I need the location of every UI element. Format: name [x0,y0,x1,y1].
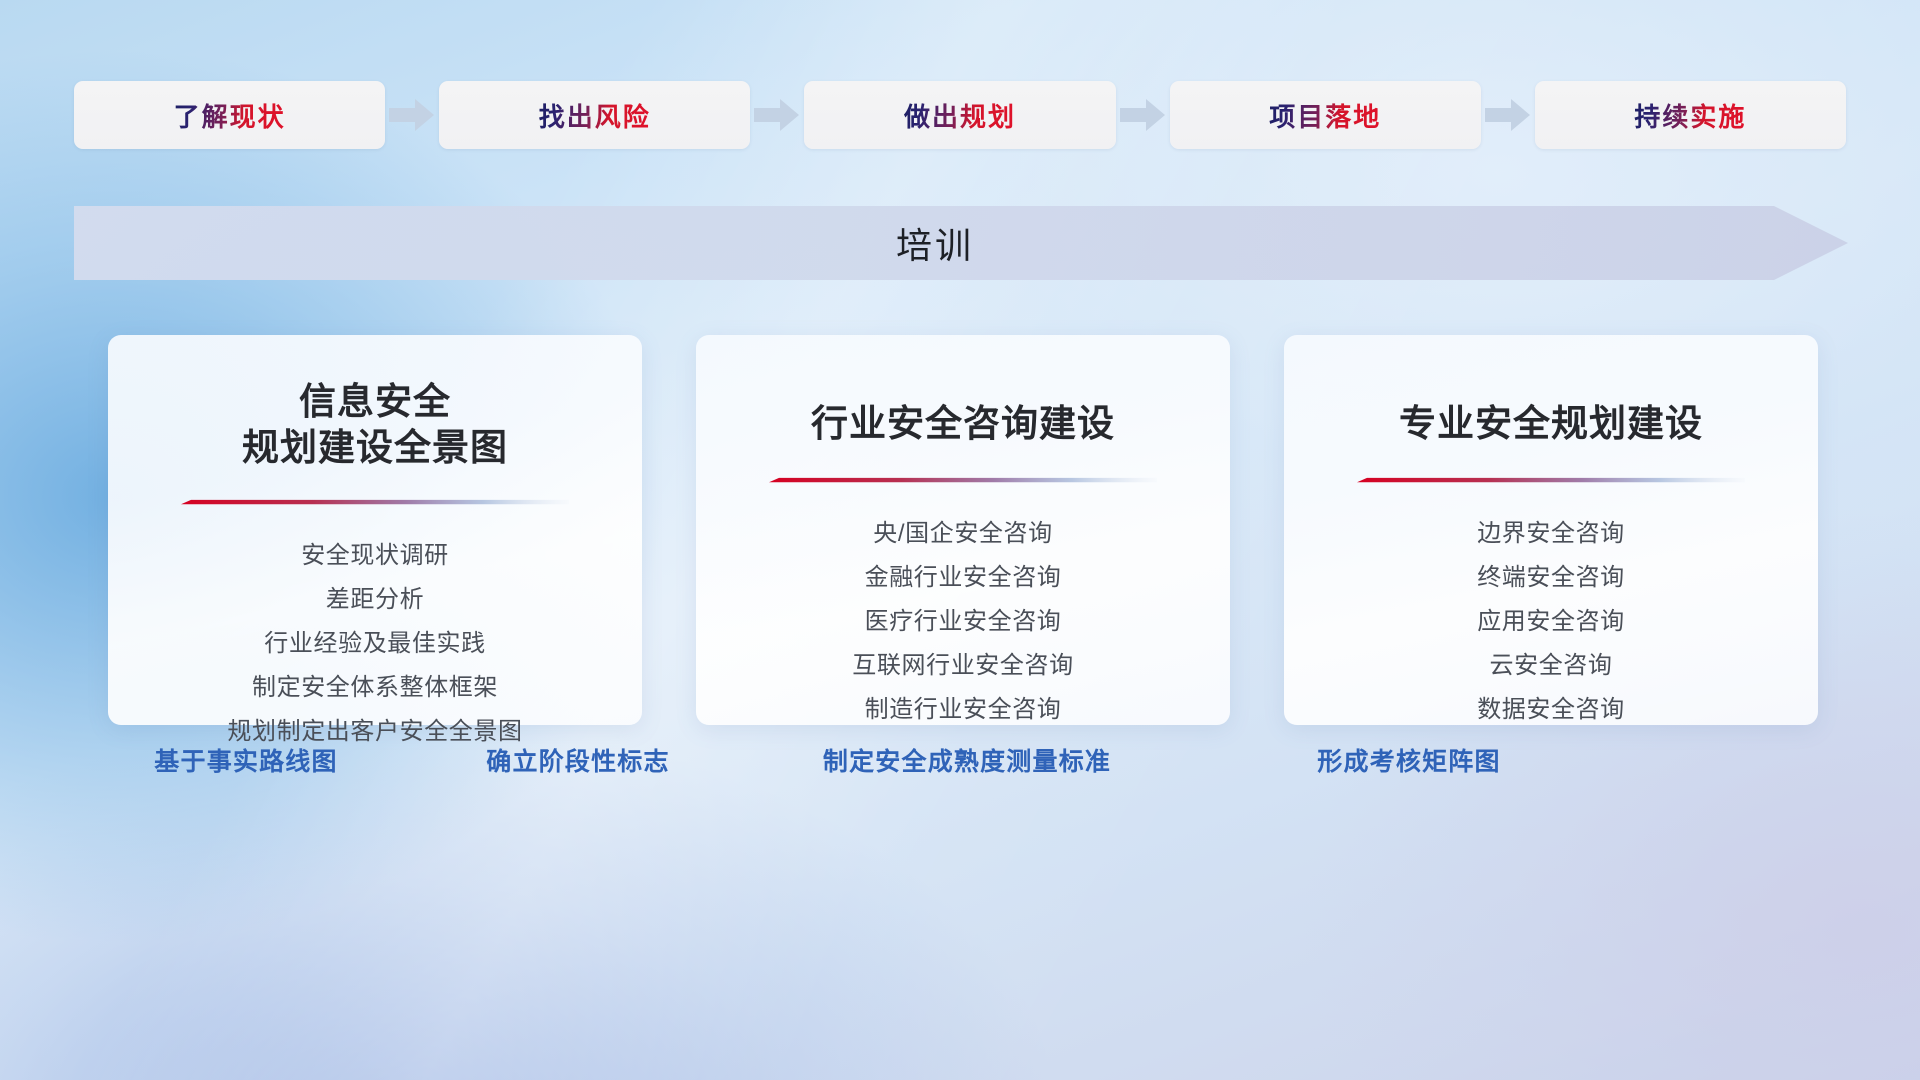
step-label-1: 了解现状 [174,97,286,134]
list-item: 终端安全咨询 [1308,556,1794,600]
list-item: 制造行业安全咨询 [720,688,1206,732]
step-box-3[interactable]: 做出规划 [804,81,1115,149]
list-item: 安全现状调研 [132,534,618,578]
process-step-flow: 了解现状找出风险做出规划项目落地持续实施 [74,80,1846,150]
list-item: 应用安全咨询 [1308,600,1794,644]
list-item: 金融行业安全咨询 [720,556,1206,600]
card-list-3: 边界安全咨询终端安全咨询应用安全咨询云安全咨询数据安全咨询 [1308,512,1794,732]
list-item: 行业经验及最佳实践 [132,622,618,666]
card-list-1: 安全现状调研差距分析行业经验及最佳实践制定安全体系整体框架规划制定出客户安全全景… [132,534,618,754]
step-arrow-4 [1481,95,1535,135]
step-box-4[interactable]: 项目落地 [1170,81,1481,149]
footer-label-1: 基于事实路线图 [154,742,337,778]
step-box-1[interactable]: 了解现状 [74,81,385,149]
card-divider-3 [1357,477,1745,484]
footer-label-2: 确立阶段性标志 [486,742,669,778]
card-divider-2 [769,477,1157,484]
card-title-line-1: 专业安全规划建设 [1399,401,1703,447]
card-title-1: 信息安全规划建设全景图 [242,377,508,471]
solution-card-3[interactable]: 专业安全规划建设边界安全咨询终端安全咨询应用安全咨询云安全咨询数据安全咨询 [1284,335,1818,725]
list-item: 制定安全体系整体框架 [132,666,618,710]
step-arrow-1 [385,95,439,135]
list-item: 互联网行业安全咨询 [720,644,1206,688]
card-title-line-1: 信息安全 [242,379,508,425]
training-banner: 培训 [74,206,1848,280]
list-item: 央/国企安全咨询 [720,512,1206,556]
step-label-3: 做出规划 [904,97,1016,134]
step-box-5[interactable]: 持续实施 [1535,81,1846,149]
step-label-4: 项目落地 [1269,97,1381,134]
card-list-2: 央/国企安全咨询金融行业安全咨询医疗行业安全咨询互联网行业安全咨询制造行业安全咨… [720,512,1206,732]
footer-label-3: 制定安全成熟度测量标准 [823,742,1111,778]
card-divider-1 [181,499,569,506]
solution-card-2[interactable]: 行业安全咨询建设央/国企安全咨询金融行业安全咨询医疗行业安全咨询互联网行业安全咨… [696,335,1230,725]
step-label-2: 找出风险 [539,97,651,134]
chevron-right-arrow-icon [1485,98,1531,132]
footer-labels: 基于事实路线图确立阶段性标志制定安全成熟度测量标准形成考核矩阵图 [0,742,1920,786]
banner-label: 培训 [48,206,1822,280]
card-title-line-2: 规划建设全景图 [242,425,508,471]
chevron-right-arrow-icon [754,98,800,132]
list-item: 差距分析 [132,578,618,622]
step-label-5: 持续实施 [1634,97,1746,134]
step-box-2[interactable]: 找出风险 [439,81,750,149]
list-item: 医疗行业安全咨询 [720,600,1206,644]
chevron-right-arrow-icon [389,98,435,132]
step-arrow-3 [1116,95,1170,135]
card-title-3: 专业安全规划建设 [1399,377,1703,447]
list-item: 云安全咨询 [1308,644,1794,688]
solution-card-1[interactable]: 信息安全规划建设全景图安全现状调研差距分析行业经验及最佳实践制定安全体系整体框架… [108,335,642,725]
list-item: 边界安全咨询 [1308,512,1794,556]
chevron-right-arrow-icon [1120,98,1166,132]
card-title-line-1: 行业安全咨询建设 [811,401,1115,447]
card-title-2: 行业安全咨询建设 [811,377,1115,447]
footer-label-4: 形成考核矩阵图 [1317,742,1500,778]
solution-cards: 信息安全规划建设全景图安全现状调研差距分析行业经验及最佳实践制定安全体系整体框架… [108,335,1818,725]
step-arrow-2 [750,95,804,135]
list-item: 数据安全咨询 [1308,688,1794,732]
